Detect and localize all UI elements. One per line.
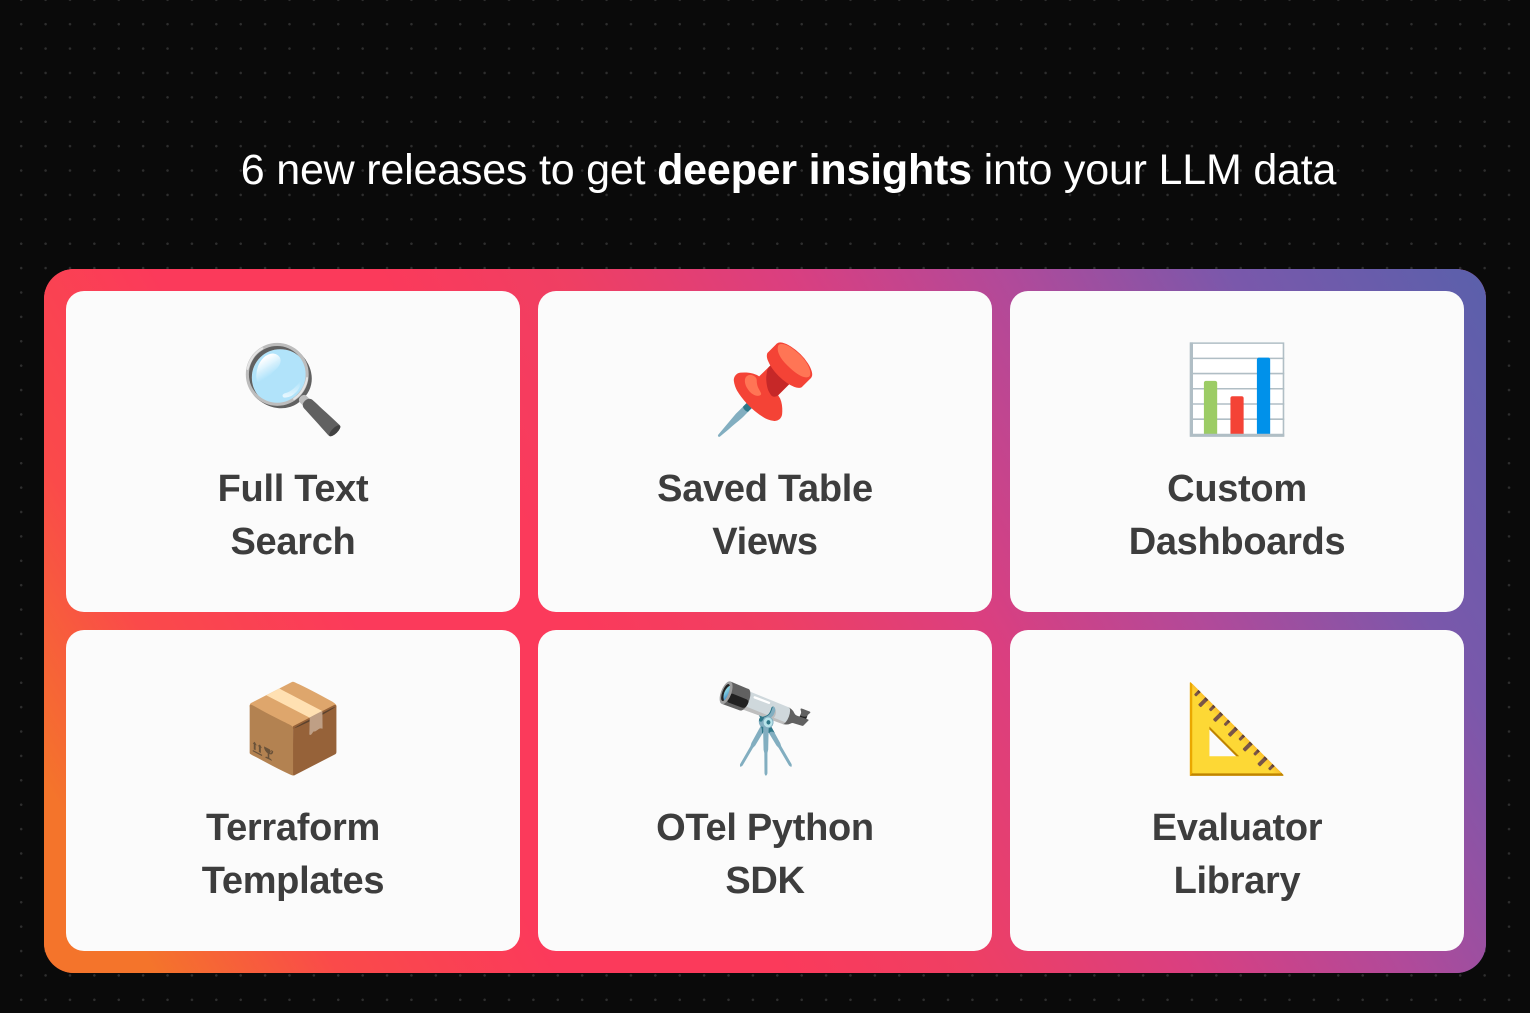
telescope-icon: 🔭 bbox=[711, 670, 818, 788]
feature-grid: 🔍 Full Text Search 📌 Saved Table Views 📊… bbox=[66, 291, 1464, 951]
announcement-graphic: 6 new releases to get deeper insights in… bbox=[0, 0, 1530, 1013]
headline-line-1-prefix: 6 new releases to get bbox=[241, 146, 657, 194]
feature-card-label: Evaluator Library bbox=[1152, 802, 1322, 908]
feature-card-label: Saved Table Views bbox=[657, 463, 873, 569]
magnifying-glass-icon: 🔍 bbox=[239, 331, 346, 449]
feature-card-evaluator-library[interactable]: 📐 Evaluator Library bbox=[1010, 630, 1464, 951]
package-box-icon: 📦 bbox=[239, 670, 346, 788]
feature-card-label: Full Text Search bbox=[218, 463, 369, 569]
triangular-ruler-icon: 📐 bbox=[1183, 670, 1290, 788]
feature-card-saved-table-views[interactable]: 📌 Saved Table Views bbox=[538, 291, 992, 612]
bar-chart-icon: 📊 bbox=[1183, 331, 1290, 449]
feature-card-full-text-search[interactable]: 🔍 Full Text Search bbox=[66, 291, 520, 612]
headline-line-1-emphasis: deeper insights bbox=[657, 146, 972, 194]
feature-card-custom-dashboards[interactable]: 📊 Custom Dashboards bbox=[1010, 291, 1464, 612]
feature-panel: 🔍 Full Text Search 📌 Saved Table Views 📊… bbox=[44, 269, 1486, 973]
feature-card-label: Custom Dashboards bbox=[1129, 463, 1346, 569]
feature-card-terraform-templates[interactable]: 📦 Terraform Templates bbox=[66, 630, 520, 951]
headline-line-1-suffix: into your LLM data bbox=[972, 146, 1336, 194]
feature-card-label: OTel Python SDK bbox=[656, 802, 874, 908]
feature-card-otel-python-sdk[interactable]: 🔭 OTel Python SDK bbox=[538, 630, 992, 951]
pushpin-icon: 📌 bbox=[711, 331, 818, 449]
feature-card-label: Terraform Templates bbox=[202, 802, 384, 908]
